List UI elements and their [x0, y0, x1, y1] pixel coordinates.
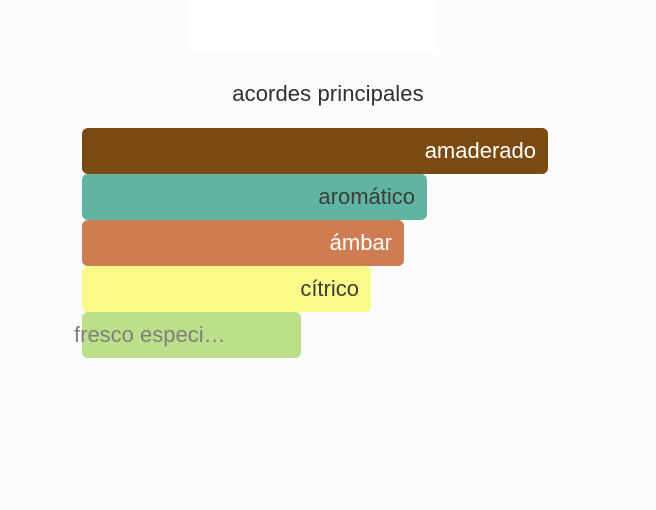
bar-row[interactable]: amaderado	[82, 128, 548, 174]
bar-track: ámbar	[82, 220, 404, 266]
bar-row[interactable]: ámbar	[82, 220, 548, 266]
bar-fill-fresco-especiado[interactable]	[82, 312, 301, 358]
main-accords-chart: acordes principales amaderado aromático …	[0, 0, 656, 510]
bar-track: cítrico	[82, 266, 371, 312]
bar-row[interactable]: cítrico	[82, 266, 548, 312]
bar-fill-aromatico[interactable]	[82, 174, 427, 220]
bar-fill-ambar[interactable]	[82, 220, 404, 266]
bar-fill-citrico[interactable]	[82, 266, 371, 312]
chart-title: acordes principales	[0, 80, 656, 108]
bar-row[interactable]: fresco especi…	[82, 312, 548, 358]
bar-track: aromático	[82, 174, 427, 220]
bar-list: amaderado aromático ámbar cítrico	[82, 128, 548, 358]
bar-track: fresco especi…	[82, 312, 301, 358]
bar-fill-amaderado[interactable]	[82, 128, 548, 174]
bar-row[interactable]: aromático	[82, 174, 548, 220]
bar-track: amaderado	[82, 128, 548, 174]
